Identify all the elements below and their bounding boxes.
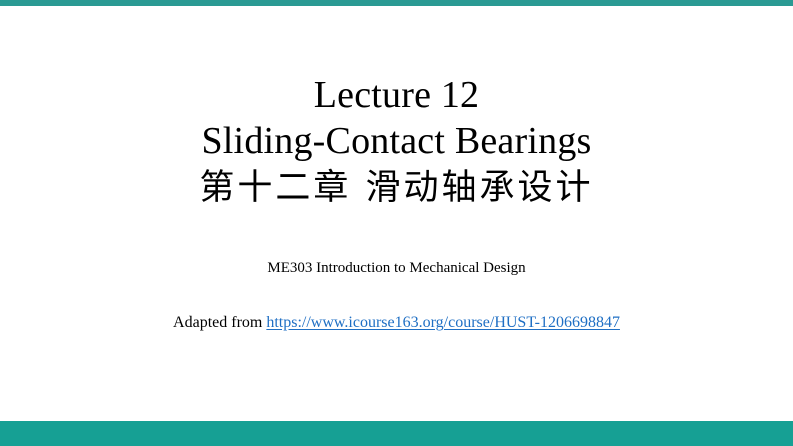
course-subtitle: ME303 Introduction to Mechanical Design: [0, 258, 793, 278]
title-line-chinese: 第十二章 滑动轴承设计: [0, 166, 793, 210]
title-block: Lecture 12 Sliding-Contact Bearings 第十二章…: [0, 72, 793, 210]
source-url-link[interactable]: https://www.icourse163.org/course/HUST-1…: [266, 314, 620, 331]
title-slide: Lecture 12 Sliding-Contact Bearings 第十二章…: [0, 0, 793, 446]
title-line-1: Lecture 12: [0, 72, 793, 118]
title-line-2: Sliding-Contact Bearings: [0, 118, 793, 164]
bottom-accent-bar: [0, 421, 793, 446]
source-attribution: Adapted from https://www.icourse163.org/…: [0, 312, 793, 334]
slide-content: Lecture 12 Sliding-Contact Bearings 第十二章…: [0, 0, 793, 421]
source-prefix-label: Adapted from: [173, 314, 266, 331]
